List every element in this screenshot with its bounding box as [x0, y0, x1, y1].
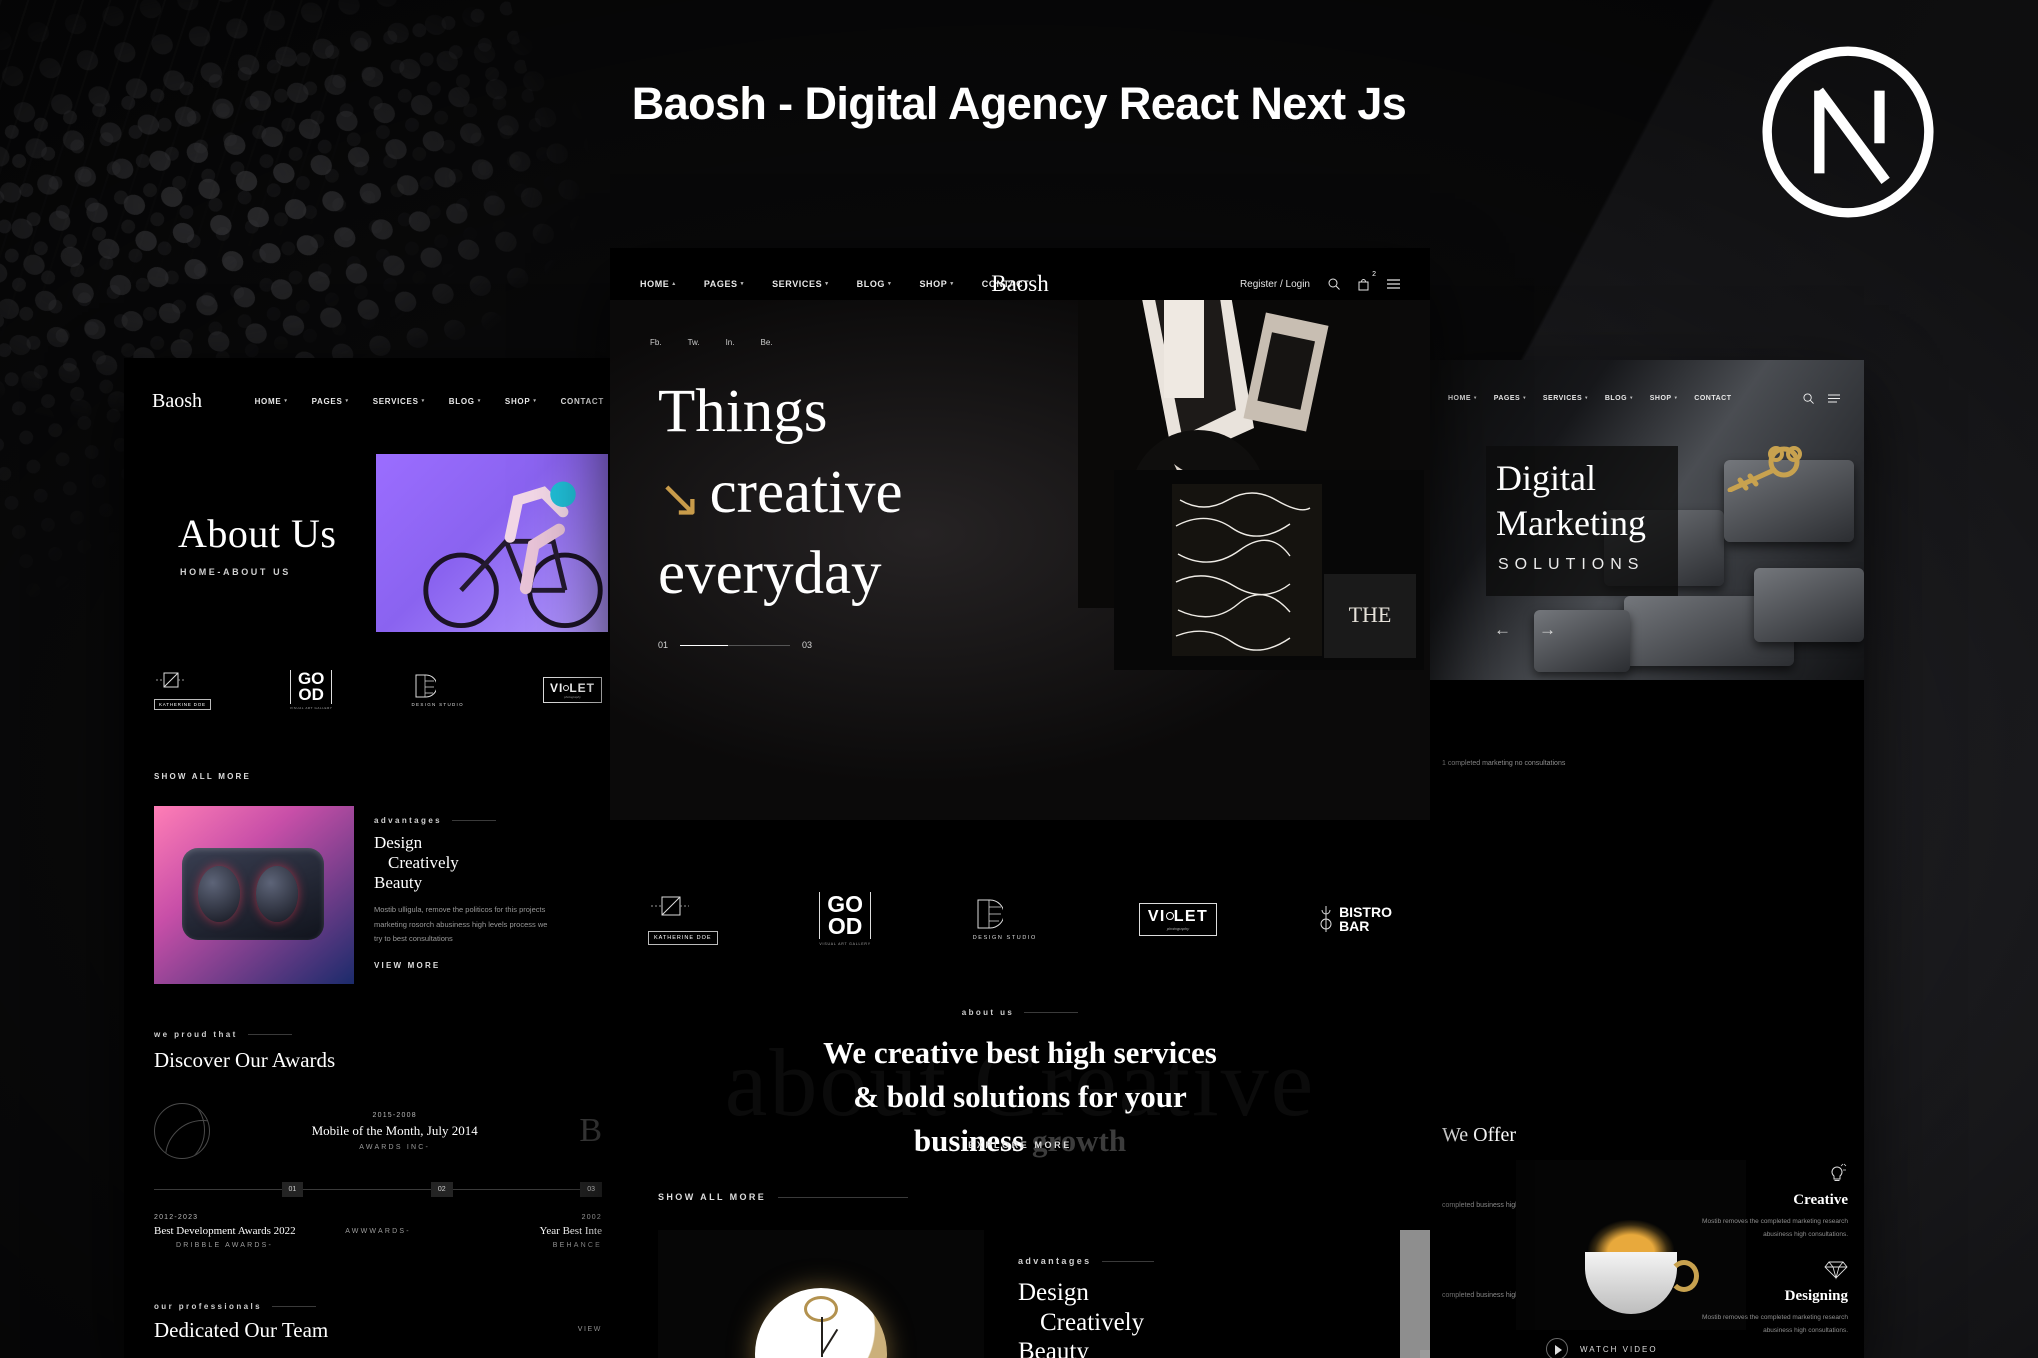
left-mockup-navbar[interactable]: Baosh HOME▾ PAGES▾ SERVICES▾ BLOG▾ SHOP▾… [124, 388, 632, 414]
earbuds-case [182, 848, 324, 940]
svg-text:THE: THE [1349, 602, 1392, 627]
left-awards-ticks[interactable]: 01 02 03 [154, 1182, 602, 1197]
award-row-3: 2002 Year Best Inte BEHANCE [453, 1214, 602, 1249]
center-nav-item-shop[interactable]: SHOP▾ [919, 279, 953, 289]
left-team-view-button[interactable]: VIEW [578, 1326, 602, 1333]
left-nav-pages-label: PAGES [312, 397, 343, 406]
chevron-down-icon: ▾ [533, 398, 536, 404]
mockup-about-page[interactable]: Baosh HOME▾ PAGES▾ SERVICES▾ BLOG▾ SHOP▾… [124, 358, 632, 1358]
play-icon[interactable] [1546, 1338, 1568, 1358]
chevron-down-icon: ▾ [422, 398, 425, 404]
left-nav-item-services[interactable]: SERVICES▾ [373, 397, 425, 406]
gift-box-image [1400, 1230, 1430, 1358]
left-nav-item-contact[interactable]: CONTACT [561, 397, 604, 406]
center-social-links[interactable]: Fb. Tw. In. Be. [650, 338, 773, 347]
left-advantages-section: advantages Design Creatively Beauty Most… [154, 806, 602, 984]
brand-logo-design-studio-label: DESIGN STUDIO [412, 702, 464, 707]
brand-logo-good: GOOD VISUAL ART GALLERY [819, 892, 870, 947]
award-name: Mobile of the Month, July 2014 [210, 1123, 579, 1139]
right-hero-subtitle: SOLUTIONS [1498, 556, 1644, 574]
right-nav-item-contact[interactable]: CONTACT [1694, 395, 1731, 402]
brand-logo-violet: VILET photography [1139, 903, 1217, 936]
lightbulb-icon [1700, 1162, 1848, 1184]
center-hero: THE Fb. Tw. In. Be. Things ↘creative eve… [610, 300, 1430, 820]
slider-track[interactable] [680, 645, 790, 646]
award-row-2: AWWWARDS- [303, 1214, 452, 1235]
gold-key-icon [1718, 446, 1806, 492]
left-advantages-body: Mostib ulligula, remove the politicos fo… [374, 903, 554, 947]
chevron-down-icon: ▾ [1523, 395, 1526, 401]
left-advantages-title: Design Creatively Beauty [374, 833, 602, 893]
center-about-eyebrow: about us [610, 1008, 1430, 1017]
chevron-up-icon: ▴ [672, 281, 675, 287]
offer-card-creative-title: Creative [1700, 1192, 1848, 1209]
center-brand-logos-row: KATHERINE DOE GOOD VISUAL ART GALLERY DE… [610, 884, 1430, 954]
cart-icon[interactable]: 2 [1358, 278, 1369, 291]
left-hero-title: About Us [178, 510, 336, 557]
left-advantages-eyebrow: advantages [374, 816, 602, 825]
right-hero-line-1: Digital [1496, 456, 1646, 501]
breadcrumb: HOME-ABOUT US [180, 567, 291, 577]
mockup-home-page[interactable]: THE Fb. Tw. In. Be. Things ↘creative eve… [610, 248, 1430, 1358]
left-brand-logos-row: KATHERINE DOE GOOD VISUAL ART GALLERY DE… [124, 658, 632, 722]
social-instagram[interactable]: In. [726, 338, 735, 347]
center-nav-item-blog[interactable]: BLOG▾ [857, 279, 892, 289]
chevron-down-icon: ▾ [1675, 395, 1678, 401]
pocket-watch-image [658, 1230, 984, 1358]
earbuds-image [154, 806, 354, 984]
chevron-down-icon: ▾ [1585, 395, 1588, 401]
diamond-icon [1700, 1260, 1848, 1280]
nextjs-logo-icon [1754, 38, 1942, 226]
tick-02[interactable]: 02 [431, 1182, 453, 1197]
left-show-all-label: SHOW ALL MORE [154, 772, 251, 781]
center-explore-button[interactable]: EXPLORE MORE [610, 1140, 1430, 1150]
center-brand-logo[interactable]: Baosh [991, 271, 1049, 297]
cart-badge: 2 [1372, 271, 1376, 278]
left-nav-shop-label: SHOP [505, 397, 530, 406]
page-title: Baosh - Digital Agency React Next Js [0, 78, 2038, 130]
left-awards-featured: 2015-2008 Mobile of the Month, July 2014… [154, 1088, 602, 1174]
slide-current: 01 [658, 640, 668, 650]
brand-logo-katherine-doe: KATHERINE DOE [648, 894, 718, 945]
left-hero: About Us HOME-ABOUT US [124, 424, 632, 646]
chevron-down-icon: ▾ [825, 281, 828, 287]
left-nav-blog-label: BLOG [449, 397, 475, 406]
right-header-tools[interactable] [1803, 393, 1840, 404]
left-awards-rows: 2012-2023 Best Development Awards 2022 D… [154, 1214, 602, 1249]
center-nav-item-pages[interactable]: PAGES▾ [704, 279, 744, 289]
left-view-more-button[interactable]: VIEW MORE [374, 961, 602, 970]
center-advantages-eyebrow: advantages [1018, 1256, 1382, 1266]
right-nav-item-pages[interactable]: PAGES▾ [1494, 395, 1526, 402]
right-hero-line-2: Marketing [1496, 501, 1646, 546]
brand-logo-design-studio: DESIGN STUDIO [412, 673, 464, 707]
chevron-down-icon: ▾ [284, 398, 287, 404]
behance-icon: B [579, 1112, 602, 1150]
left-brand-logo[interactable]: Baosh [152, 390, 202, 413]
left-awards-title: Discover Our Awards [154, 1048, 335, 1073]
chevron-down-icon: ▾ [478, 398, 481, 404]
hero-product-image-2: THE [1114, 470, 1424, 670]
left-team-title: Dedicated Our Team [154, 1318, 328, 1343]
left-nav-home-label: HOME [255, 397, 282, 406]
chevron-down-icon: ▾ [346, 398, 349, 404]
left-nav-contact-label: CONTACT [561, 397, 604, 406]
chevron-down-icon: ▾ [888, 281, 891, 287]
tick-01[interactable]: 01 [282, 1182, 304, 1197]
slide-total: 03 [802, 640, 812, 650]
left-nav-item-pages[interactable]: PAGES▾ [312, 397, 349, 406]
offer-card-designing-title: Designing [1700, 1288, 1848, 1305]
offer-card-creative: Creative Mostib removes the completed ma… [1700, 1162, 1848, 1241]
hero-line-1: Things [658, 372, 903, 453]
arrow-left-icon[interactable]: ← [1494, 620, 1511, 640]
right-nav-item-blog[interactable]: BLOG▾ [1605, 395, 1633, 402]
left-nav-item-blog[interactable]: BLOG▾ [449, 397, 481, 406]
brand-logo-design-studio: DESIGN STUDIO [973, 897, 1037, 941]
hamburger-menu-icon[interactable] [1387, 279, 1400, 289]
right-nav-item-home[interactable]: HOME▾ [1448, 395, 1477, 402]
right-side-note-1: 1 completed marketing no consultations [1442, 758, 1565, 770]
social-behance[interactable]: Be. [760, 338, 772, 347]
left-nav-menu[interactable]: HOME▾ PAGES▾ SERVICES▾ BLOG▾ SHOP▾ CONTA… [255, 397, 604, 406]
search-icon[interactable] [1328, 278, 1340, 290]
center-show-all-button[interactable]: SHOW ALL MORE [658, 1192, 908, 1202]
right-mockup-navbar[interactable]: HOME▾ PAGES▾ SERVICES▾ BLOG▾ SHOP▾ CONTA… [1424, 386, 1864, 410]
pocket-watch [755, 1288, 887, 1358]
hamburger-menu-icon[interactable] [1828, 394, 1840, 403]
left-nav-item-home[interactable]: HOME▾ [255, 397, 288, 406]
register-login-link[interactable]: Register / Login [1240, 279, 1310, 290]
award-org: AWARDS INC- [210, 1144, 579, 1151]
mockup-digital-marketing-page[interactable]: HOME▾ PAGES▾ SERVICES▾ BLOG▾ SHOP▾ CONTA… [1424, 360, 1864, 1358]
award-row-1: 2012-2023 Best Development Awards 2022 D… [154, 1214, 303, 1249]
tick-03[interactable]: 03 [580, 1182, 602, 1197]
right-side-note-2: completed business high [1442, 1200, 1519, 1212]
left-awards-eyebrow: we proud that [154, 1030, 292, 1039]
left-nav-item-shop[interactable]: SHOP▾ [505, 397, 537, 406]
right-side-note-3: completed business high [1442, 1290, 1519, 1302]
center-advantages-title: Design Creatively Beauty [1018, 1278, 1382, 1358]
chevron-down-icon: ▾ [950, 281, 953, 287]
chevron-down-icon: ▾ [741, 281, 744, 287]
center-hero-headline: Things ↘creative everyday [658, 372, 903, 615]
award-years: 2015-2008 [210, 1112, 579, 1119]
right-nav-item-shop[interactable]: SHOP▾ [1650, 395, 1678, 402]
offer-card-designing-body: Mostib removes the completed marketing r… [1700, 1311, 1848, 1337]
chevron-down-icon: ▾ [1474, 395, 1477, 401]
left-show-all-button[interactable]: SHOW ALL MORE [154, 772, 263, 781]
offer-card-creative-body: Mostib removes the completed marketing r… [1700, 1215, 1848, 1241]
right-nav-menu[interactable]: HOME▾ PAGES▾ SERVICES▾ BLOG▾ SHOP▾ CONTA… [1448, 395, 1732, 402]
arrow-right-icon[interactable]: → [1539, 620, 1556, 640]
center-nav-menu[interactable]: HOME▴ PAGES▾ SERVICES▾ BLOG▾ SHOP▾ CONTA… [640, 279, 1029, 289]
arrow-down-right-icon: ↘ [658, 466, 702, 535]
hero-line-2: ↘creative [658, 453, 903, 535]
left-team-eyebrow: our professionals [154, 1302, 316, 1311]
offer-card-designing: Designing Mostib removes the completed m… [1700, 1260, 1848, 1337]
right-hero-slider-arrows[interactable]: ← → [1494, 620, 1556, 640]
hero-line-3: everyday [658, 534, 903, 615]
dribbble-icon [154, 1103, 210, 1159]
right-hero-headline: Digital Marketing [1496, 456, 1646, 545]
cyclist-hero-image [376, 454, 608, 632]
center-advantages-section: advantages Design Creatively Beauty Most… [658, 1230, 1382, 1358]
right-offer-title: We Offer [1442, 1124, 1516, 1148]
left-nav-services-label: SERVICES [373, 397, 419, 406]
brand-logo-good: GOOD VISUAL ART GALLERY [290, 670, 333, 710]
watch-video-label: WATCH VIDEO [1580, 1345, 1658, 1354]
chevron-down-icon: ▾ [1630, 395, 1633, 401]
right-watch-video-button[interactable]: WATCH VIDEO [1546, 1338, 1658, 1358]
center-mockup-navbar[interactable]: HOME▴ PAGES▾ SERVICES▾ BLOG▾ SHOP▾ CONTA… [610, 270, 1430, 298]
social-twitter[interactable]: Tw. [688, 338, 700, 347]
brand-logo-violet: VILET photography [543, 677, 602, 703]
social-facebook[interactable]: Fb. [650, 338, 662, 347]
divider [778, 1197, 908, 1198]
center-nav-item-home[interactable]: HOME▴ [640, 279, 676, 289]
center-header-tools[interactable]: Register / Login 2 [1240, 278, 1400, 291]
brand-logo-katherine-doe-label: KATHERINE DOE [154, 699, 211, 710]
brand-logo-bistro-bar: BISTROBAR [1319, 904, 1392, 934]
center-nav-item-services[interactable]: SERVICES▾ [772, 279, 829, 289]
search-icon[interactable] [1803, 393, 1814, 404]
coffee-cup [1585, 1252, 1677, 1314]
right-nav-item-services[interactable]: SERVICES▾ [1543, 395, 1588, 402]
hero-slider-indicator[interactable]: 01 03 [658, 640, 812, 650]
brand-logo-katherine-doe: KATHERINE DOE [154, 671, 211, 710]
